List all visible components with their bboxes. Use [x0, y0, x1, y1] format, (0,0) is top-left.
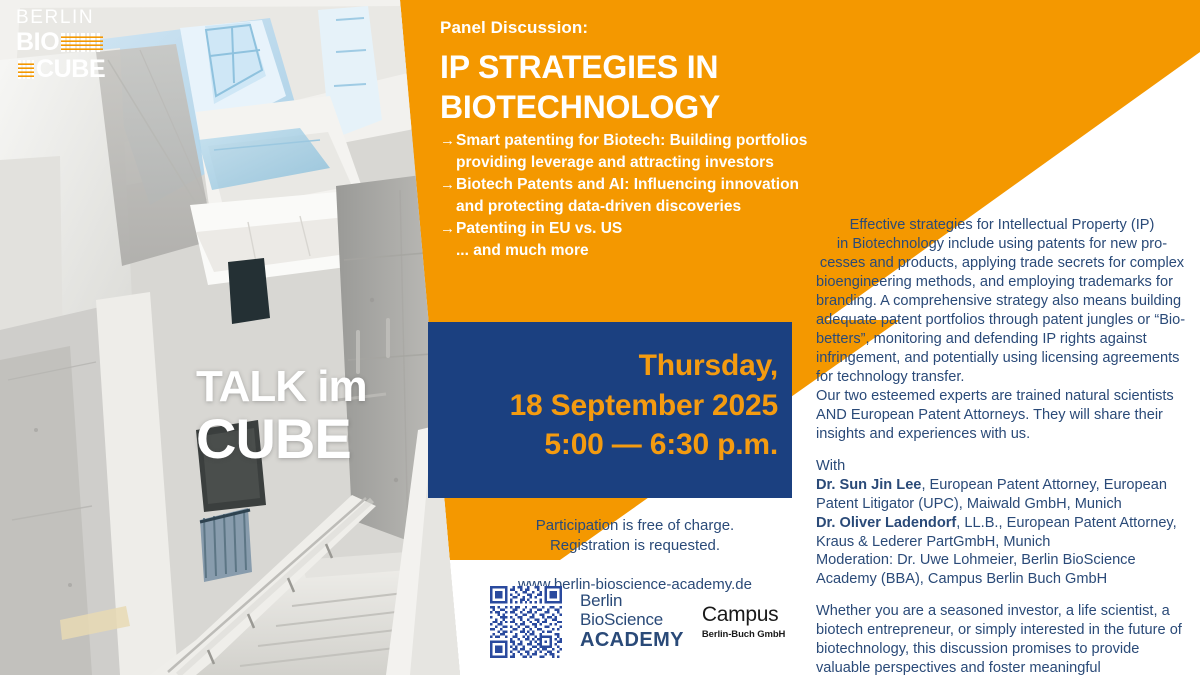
talk-overlay-line1: TALK im: [196, 365, 367, 408]
page-title: IP STRATEGIES IN BIOTECHNOLOGY: [440, 48, 860, 127]
logo-bio-row: BIO: [16, 30, 124, 55]
list-item-text: Smart patenting for Biotech: Building po…: [456, 130, 840, 174]
arrow-right-icon: →: [440, 130, 456, 151]
talk-im-cube-overlay: TALK im CUBE: [196, 365, 367, 467]
qr-code-icon[interactable]: [490, 586, 562, 658]
footer-logos: Berlin BioScience ACADEMY Campus Berlin-…: [490, 586, 785, 658]
registration-line2: Registration is requested.: [470, 536, 800, 556]
event-time: 5:00 — 6:30 p.m.: [428, 425, 778, 465]
page-title-line2: BIOTECHNOLOGY: [440, 88, 860, 128]
list-item-text: Biotech Patents and AI: Influencing inno…: [456, 174, 840, 218]
event-date: 18 September 2025: [428, 386, 778, 426]
list-item-line2: providing leverage and attracting invest…: [456, 154, 774, 171]
registration-info: Participation is free of charge. Registr…: [470, 516, 800, 595]
list-item-line1: Biotech Patents and AI: Influencing inno…: [456, 176, 799, 193]
list-item: → Patenting in EU vs. US: [440, 218, 840, 240]
list-item-more: ... and much more: [440, 240, 840, 262]
logo-bio-text: BIO: [16, 30, 59, 55]
barcode-bars-icon: [61, 33, 103, 52]
campus-logo-line2: Berlin-Buch GmbH: [702, 630, 785, 640]
list-item-line2: and protecting data-driven discoveries: [456, 198, 741, 215]
arrow-right-icon: →: [440, 174, 456, 195]
venue-photo: [0, 0, 460, 675]
registration-line1: Participation is free of charge.: [470, 516, 800, 536]
list-item: → Smart patenting for Biotech: Building …: [440, 130, 840, 174]
event-poster: BERLIN BIO: [0, 0, 1200, 675]
speaker-1-name: Dr. Sun Jin Lee: [816, 477, 921, 493]
logo-berlin-text: BERLIN: [16, 8, 124, 27]
experts-paragraph: Our two esteemed experts are trained nat…: [816, 387, 1188, 444]
speaker-2-name: Dr. Oliver Ladendorf: [816, 515, 956, 531]
closing-paragraph: Whether you are a seasoned investor, a l…: [816, 602, 1188, 675]
intro-rest: bioengineering methods, and employing tr…: [816, 273, 1188, 387]
intro-line1: Effective strategies for Intellectual Pr…: [816, 216, 1188, 235]
talk-overlay-line2: CUBE: [196, 412, 367, 467]
intro-line3: cesses and products, applying trade secr…: [816, 254, 1188, 273]
list-item: → Biotech Patents and AI: Influencing in…: [440, 174, 840, 218]
intro-line2: in Biotechnology include using patents f…: [816, 235, 1188, 254]
campus-logo-line1: Campus: [702, 604, 785, 626]
logo-cube-row: CUBE: [16, 57, 124, 82]
speaker-2: Dr. Oliver Ladendorf, LL.B., European Pa…: [816, 514, 1188, 552]
body-copy: Effective strategies for Intellectual Pr…: [816, 216, 1188, 675]
bba-logo-line1: Berlin: [580, 592, 684, 610]
list-item-line1: Smart patenting for Biotech: Building po…: [456, 132, 807, 149]
with-label: With: [816, 457, 1188, 476]
berlin-biocube-logo: BERLIN BIO: [16, 8, 124, 84]
topic-list: → Smart patenting for Biotech: Building …: [440, 130, 840, 262]
intro-paragraph: Effective strategies for Intellectual Pr…: [816, 216, 1188, 387]
arrow-right-icon: →: [440, 218, 456, 239]
bba-logo: Berlin BioScience ACADEMY: [580, 592, 684, 651]
speaker-1: Dr. Sun Jin Lee, European Patent Attorne…: [816, 476, 1188, 514]
campus-berlin-buch-logo: Campus Berlin-Buch GmbH: [702, 604, 785, 639]
bba-logo-line2: BioScience: [580, 611, 684, 629]
moderation: Moderation: Dr. Uwe Lohmeier, Berlin Bio…: [816, 551, 1188, 589]
page-title-line1: IP STRATEGIES IN: [440, 48, 860, 88]
kicker-text: Panel Discussion:: [440, 18, 860, 38]
barcode-bars-icon-2: [18, 60, 34, 79]
list-item-line1: Patenting in EU vs. US: [456, 218, 840, 240]
logo-cube-text: CUBE: [36, 57, 105, 82]
event-day: Thursday,: [428, 346, 778, 386]
poster-header: Panel Discussion: IP STRATEGIES IN BIOTE…: [440, 18, 860, 127]
bba-logo-line3: ACADEMY: [580, 630, 684, 652]
date-time-box: Thursday, 18 September 2025 5:00 — 6:30 …: [428, 322, 792, 498]
